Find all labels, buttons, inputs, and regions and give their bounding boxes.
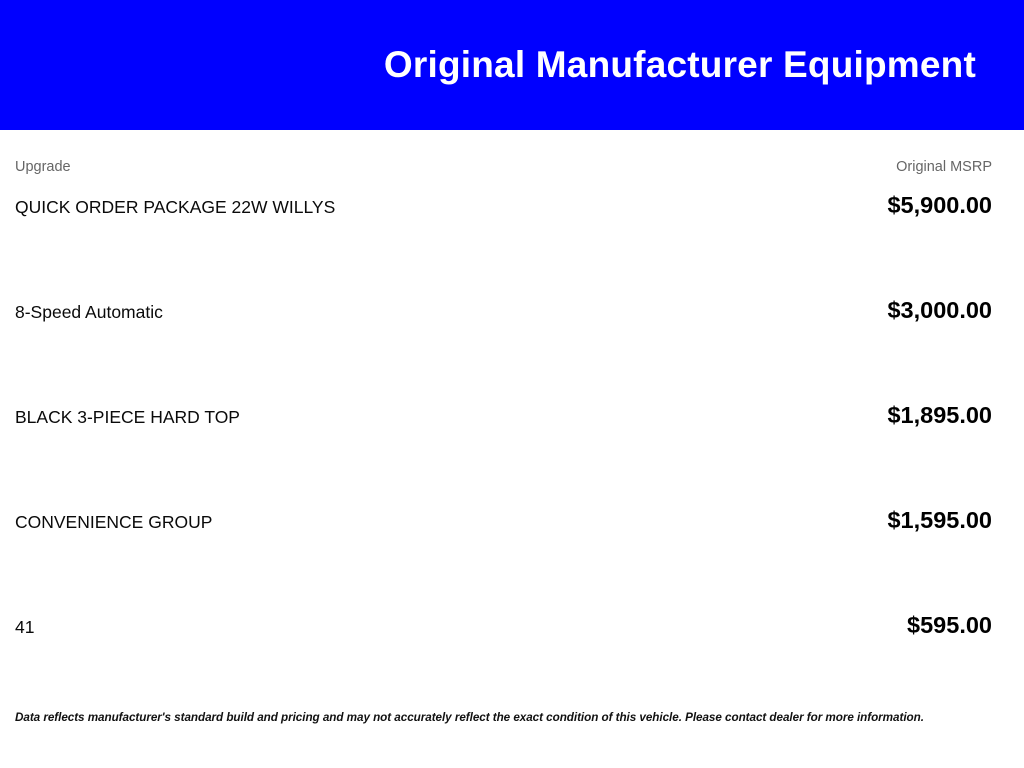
table-body: QUICK ORDER PACKAGE 22W WILLYS $5,900.00… bbox=[15, 194, 992, 719]
upgrade-name: 41 bbox=[15, 619, 34, 637]
table-row: 8-Speed Automatic $3,000.00 bbox=[15, 299, 992, 404]
column-header-original-msrp: Original MSRP bbox=[896, 160, 992, 175]
equipment-table: Upgrade Original MSRP QUICK ORDER PACKAG… bbox=[0, 130, 1024, 719]
table-row: CONVENIENCE GROUP $1,595.00 bbox=[15, 509, 992, 614]
upgrade-price: $595.00 bbox=[907, 614, 992, 638]
upgrade-name: BLACK 3-PIECE HARD TOP bbox=[15, 409, 240, 427]
table-header-row: Upgrade Original MSRP bbox=[15, 130, 992, 170]
upgrade-price: $1,895.00 bbox=[887, 404, 992, 428]
upgrade-name: 8-Speed Automatic bbox=[15, 304, 163, 322]
page-header-banner: Original Manufacturer Equipment bbox=[0, 0, 1024, 130]
upgrade-name: QUICK ORDER PACKAGE 22W WILLYS bbox=[15, 199, 335, 217]
equipment-page: Original Manufacturer Equipment Upgrade … bbox=[0, 0, 1024, 768]
table-row: BLACK 3-PIECE HARD TOP $1,895.00 bbox=[15, 404, 992, 509]
column-header-upgrade: Upgrade bbox=[15, 160, 71, 175]
table-row: QUICK ORDER PACKAGE 22W WILLYS $5,900.00 bbox=[15, 194, 992, 299]
table-row: 41 $595.00 bbox=[15, 614, 992, 719]
page-title: Original Manufacturer Equipment bbox=[384, 45, 1024, 86]
disclaimer-text: Data reflects manufacturer's standard bu… bbox=[15, 711, 1009, 726]
upgrade-name: CONVENIENCE GROUP bbox=[15, 514, 212, 532]
upgrade-price: $1,595.00 bbox=[887, 509, 992, 533]
upgrade-price: $5,900.00 bbox=[887, 194, 992, 218]
upgrade-price: $3,000.00 bbox=[887, 299, 992, 323]
